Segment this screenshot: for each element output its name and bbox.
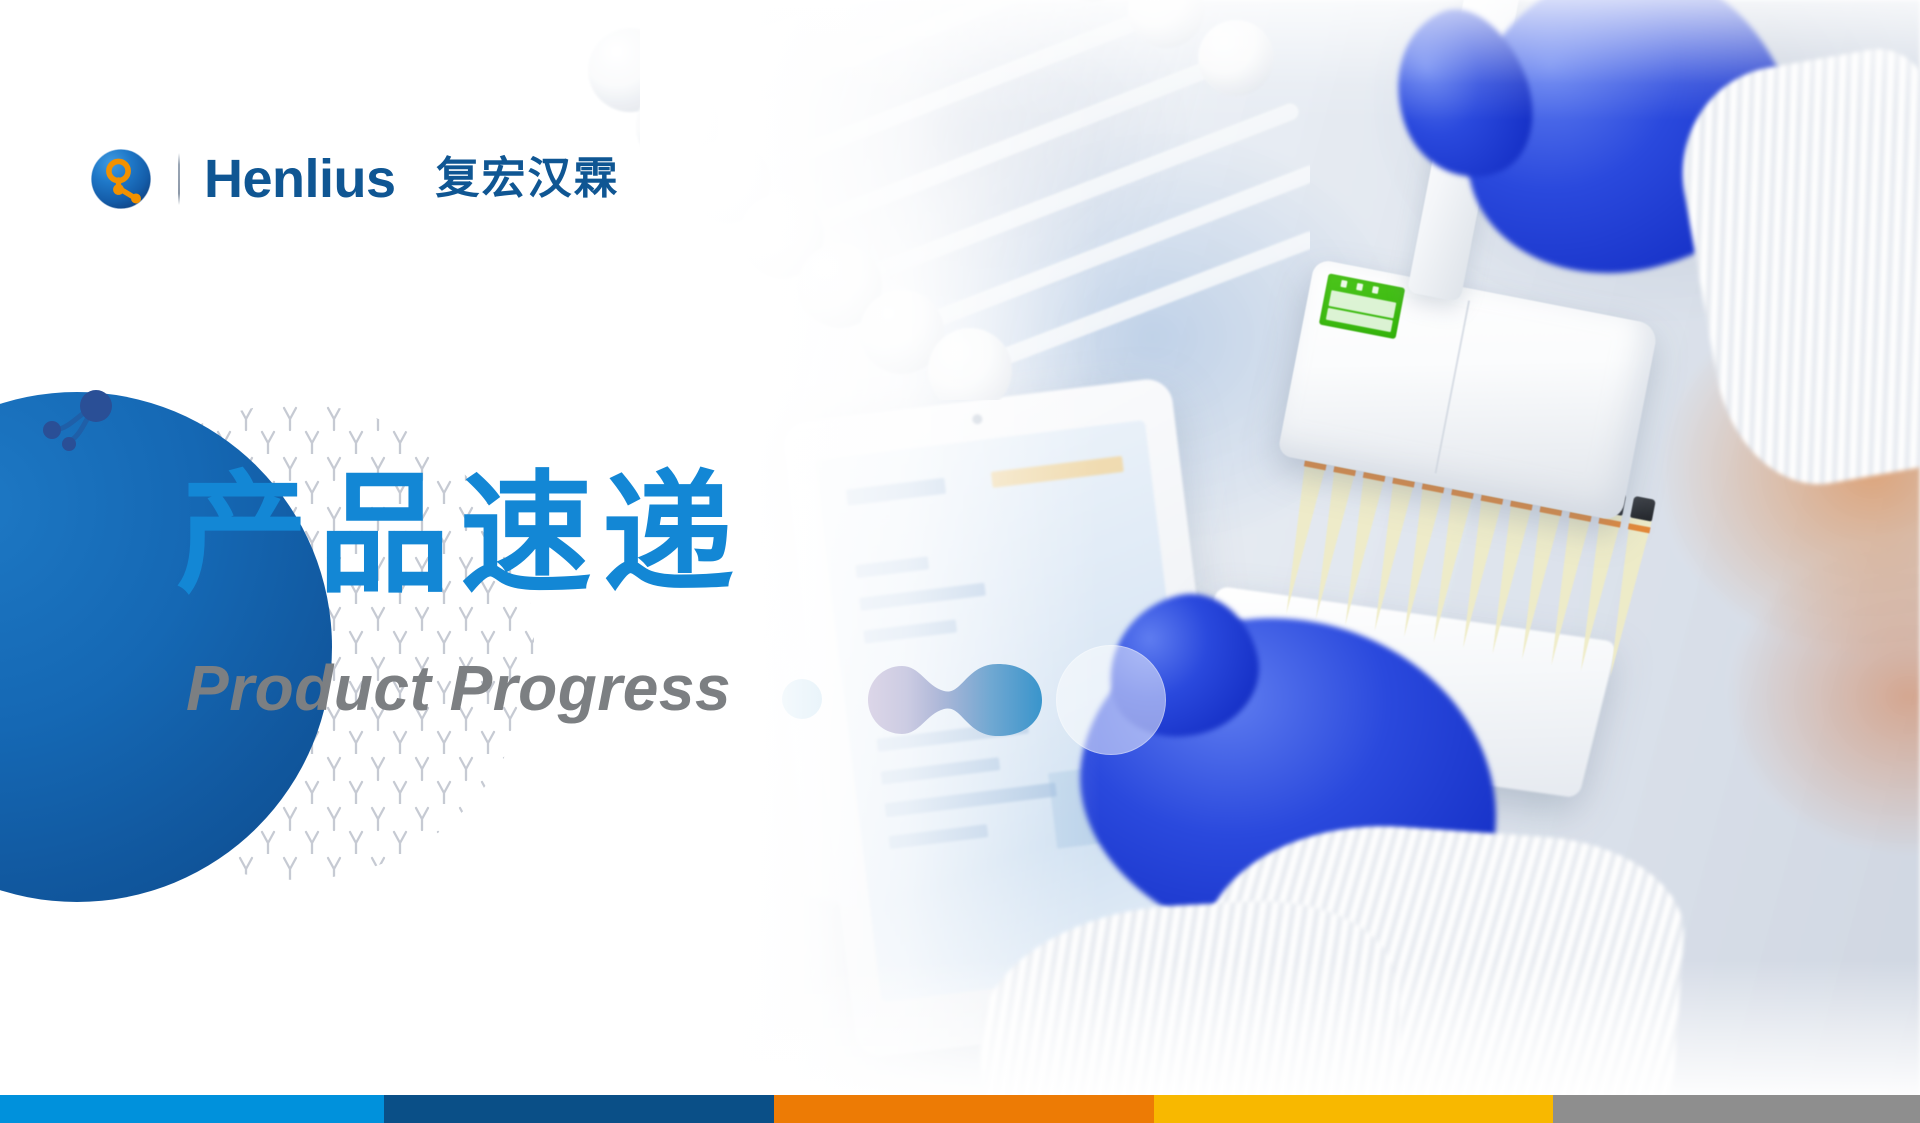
henlius-badge-icon (90, 148, 152, 210)
segment-gray (1553, 1095, 1920, 1123)
logo-text-cn: 复宏汉霖 (436, 157, 620, 201)
pipette-label-sticker (1319, 273, 1405, 339)
photo-fade-bottom (700, 960, 1920, 1095)
photo-fade-top (700, 0, 1920, 120)
brand-color-bar (0, 1095, 1920, 1123)
page-title-cn: 产品速递 (176, 466, 744, 606)
segment-dark-blue (384, 1095, 774, 1123)
segment-orange (774, 1095, 1154, 1123)
segment-yellow (1154, 1095, 1553, 1123)
mini-molecule-icon (38, 388, 128, 460)
slide-canvas: Henlius 复宏汉霖 产品速递 Product Progress (0, 0, 1920, 1123)
henlius-logo[interactable]: Henlius 复宏汉霖 (90, 148, 620, 210)
logo-divider (178, 153, 180, 205)
segment-light-blue (0, 1095, 384, 1123)
page-subtitle-en: Product Progress (186, 656, 731, 720)
logo-text-en: Henlius (204, 152, 396, 206)
